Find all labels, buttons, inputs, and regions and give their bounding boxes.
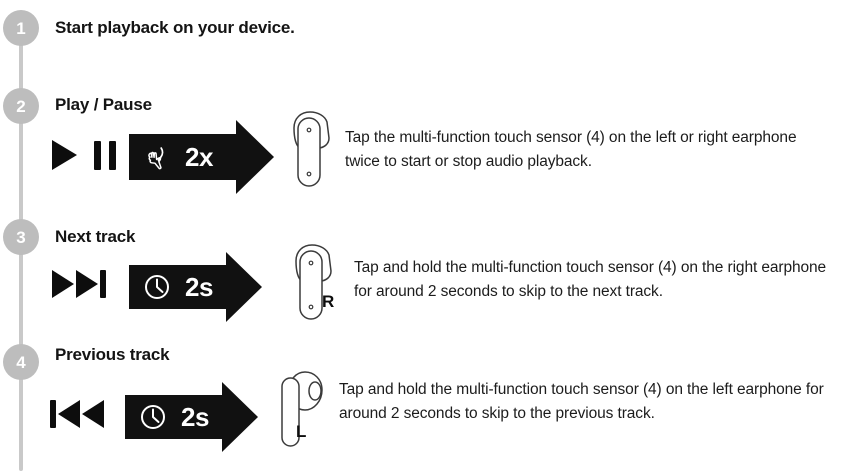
earphone-side-label-right: R (322, 292, 334, 312)
arrow-label-2x: 2x (185, 144, 213, 170)
arrow-label-2s-previous: 2s (181, 404, 209, 430)
clock-icon (137, 401, 169, 433)
step-number-badge-4: 4 (3, 344, 39, 380)
skip-backward-icon (50, 400, 104, 428)
step-number-badge-1: 1 (3, 10, 39, 46)
step-title-4: Previous track (55, 345, 169, 365)
play-icon (52, 140, 77, 170)
step-description-2: Tap the multi-function touch sensor (4) … (345, 126, 825, 174)
tap-hand-icon (141, 141, 173, 173)
clock-icon (141, 271, 173, 303)
earphone-side-label-left: L (296, 422, 306, 442)
earphone-illustration-right-labeled (282, 243, 344, 330)
earphone-illustration-right (280, 110, 342, 197)
action-arrow-2x: 2x (129, 120, 274, 194)
step-title-2: Play / Pause (55, 95, 152, 115)
earphone-illustration-left-labeled (270, 370, 332, 457)
arrow-head (222, 382, 258, 452)
action-arrow-2s-next: 2s (129, 252, 262, 322)
pause-icon (94, 141, 116, 170)
skip-forward-icon (52, 270, 106, 298)
step-description-4: Tap and hold the multi-function touch se… (339, 378, 839, 426)
step-title-3: Next track (55, 227, 135, 247)
arrow-head (236, 120, 274, 194)
instruction-page: 1 Start playback on your device. 2 Play … (0, 0, 846, 475)
media-icons-play-pause (52, 140, 116, 170)
step-title-1: Start playback on your device. (55, 18, 295, 38)
step-number-badge-2: 2 (3, 88, 39, 124)
arrow-label-2s-next: 2s (185, 274, 213, 300)
step-description-3: Tap and hold the multi-function touch se… (354, 256, 834, 304)
action-arrow-2s-previous: 2s (125, 382, 258, 452)
arrow-head (226, 252, 262, 322)
step-number-badge-3: 3 (3, 219, 39, 255)
